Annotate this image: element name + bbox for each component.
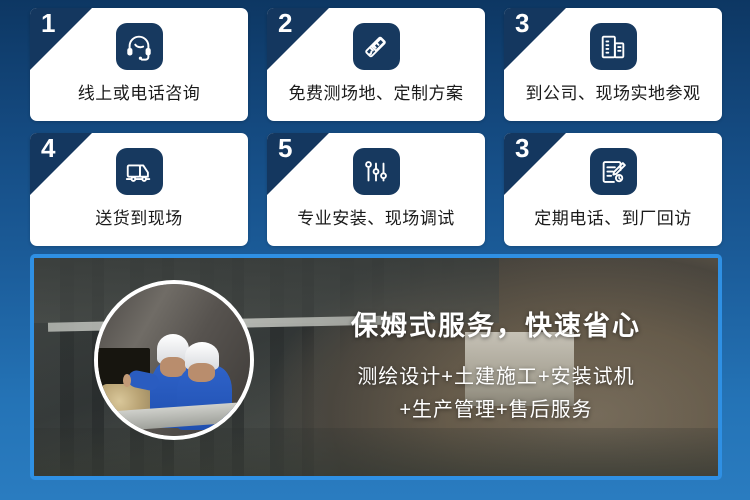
service-card-6[interactable]: 3 定期电话、到厂回访	[504, 133, 722, 246]
step-label: 到公司、现场实地参观	[526, 79, 701, 104]
corner-ribbon	[267, 8, 329, 70]
service-card-2[interactable]: 2 免费测场地、定制方案	[267, 8, 485, 121]
step-label: 线上或电话咨询	[78, 79, 201, 104]
banner-headline: 保姆式服务，快速省心	[351, 304, 641, 343]
step-number: 1	[41, 10, 55, 36]
step-number: 2	[278, 10, 292, 36]
corner-ribbon	[267, 133, 329, 195]
headset-icon	[116, 23, 163, 70]
service-steps-grid: 1 线上或电话咨询 2 免费测场地、定制方案	[30, 8, 722, 246]
step-label: 送货到现场	[95, 204, 183, 229]
service-card-4[interactable]: 4 送货到现场	[30, 133, 248, 246]
workers-circular-photo	[94, 280, 254, 440]
step-number: 5	[278, 135, 292, 161]
service-card-3[interactable]: 3 到公司、现场实地参观	[504, 8, 722, 121]
document-edit-icon	[590, 148, 637, 195]
corner-ribbon	[504, 8, 566, 70]
banner-subline-2: +生产管理+售后服务	[399, 394, 592, 427]
delivery-truck-icon	[116, 148, 163, 195]
banner-text-block: 保姆式服务，快速省心 测绘设计+土建施工+安装试机 +生产管理+售后服务	[266, 258, 722, 476]
banner-subline-1: 测绘设计+土建施工+安装试机	[357, 361, 634, 394]
corner-ribbon	[504, 133, 566, 195]
building-icon	[590, 23, 637, 70]
service-card-5[interactable]: 5 专业安装、现场调试	[267, 133, 485, 246]
service-promo-banner[interactable]: 保姆式服务，快速省心 测绘设计+土建施工+安装试机 +生产管理+售后服务	[30, 254, 722, 480]
sliders-icon	[353, 148, 400, 195]
step-label: 定期电话、到厂回访	[534, 204, 692, 229]
workers-photo-inner	[98, 284, 250, 436]
step-label: 免费测场地、定制方案	[289, 79, 464, 104]
step-label: 专业安装、现场调试	[297, 204, 455, 229]
step-number: 4	[41, 135, 55, 161]
step-number: 3	[515, 135, 529, 161]
service-card-1[interactable]: 1 线上或电话咨询	[30, 8, 248, 121]
corner-ribbon	[30, 8, 92, 70]
step-number: 3	[515, 10, 529, 36]
corner-ribbon	[30, 133, 92, 195]
ruler-pencil-icon	[353, 23, 400, 70]
